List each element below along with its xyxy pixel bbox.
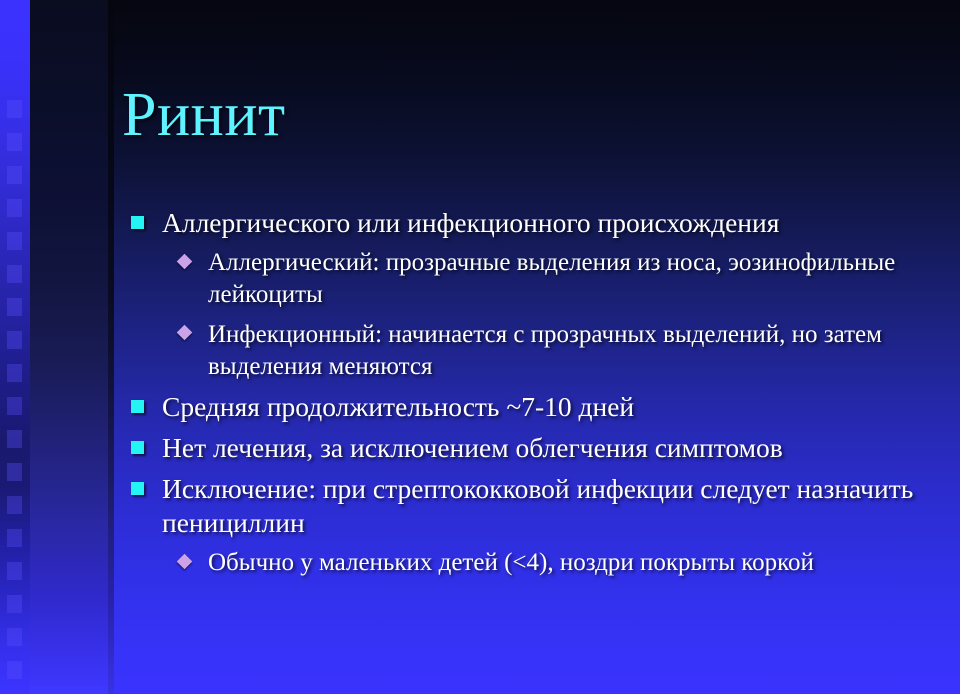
square-bullet-icon <box>130 206 162 234</box>
decorative-square <box>7 331 22 349</box>
diamond-bullet-icon <box>176 319 208 344</box>
decorative-square <box>7 397 22 415</box>
square-bullet-icon <box>130 431 162 459</box>
decorative-square <box>7 661 22 679</box>
decorative-square <box>7 463 22 481</box>
decorative-square <box>7 166 22 184</box>
bullet-text: Аллергический: прозрачные выделения из н… <box>208 247 930 312</box>
bullet-text: Исключение: при стрептококковой инфекции… <box>162 472 930 540</box>
bullet-text: Инфекционный: начинается с прозрачных вы… <box>208 319 930 384</box>
square-bullet-icon-glyph <box>131 216 144 229</box>
decorative-square <box>7 529 22 547</box>
decorative-square <box>7 298 22 316</box>
diamond-bullet-icon <box>176 547 208 572</box>
bullet-text: Обычно у маленьких детей (<4), ноздри по… <box>208 547 930 579</box>
bullet-row-level-2: Инфекционный: начинается с прозрачных вы… <box>118 319 930 384</box>
slide-body: Аллергического или инфекционного происхо… <box>118 206 930 587</box>
decorative-square <box>7 628 22 646</box>
decorative-square <box>7 232 22 250</box>
bullet-row-level-1: Исключение: при стрептококковой инфекции… <box>118 472 930 540</box>
left-decorative-band <box>0 0 114 694</box>
square-bullet-icon <box>130 390 162 418</box>
square-bullet-icon-glyph <box>131 441 144 454</box>
bullet-text: Аллергического или инфекционного происхо… <box>162 206 930 240</box>
slide-title: Ринит <box>122 84 922 146</box>
square-pattern-decoration <box>0 0 30 694</box>
bullet-text: Средняя продолжительность ~7-10 дней <box>162 390 930 424</box>
square-bullet-icon-glyph <box>131 400 144 413</box>
bullet-row-level-1: Нет лечения, за исключением облегчения с… <box>118 431 930 465</box>
diamond-bullet-icon-glyph <box>177 253 193 269</box>
diamond-bullet-icon-glyph <box>177 554 193 570</box>
diamond-bullet-icon <box>176 247 208 272</box>
decorative-square <box>7 133 22 151</box>
presentation-slide: Ринит Аллергического или инфекционного п… <box>0 0 960 694</box>
bullet-row-level-1: Средняя продолжительность ~7-10 дней <box>118 390 930 424</box>
decorative-square <box>7 562 22 580</box>
band-seam-divider <box>108 0 114 694</box>
bullet-row-level-1: Аллергического или инфекционного происхо… <box>118 206 930 240</box>
decorative-square <box>7 199 22 217</box>
decorative-square <box>7 265 22 283</box>
bullet-row-level-2: Аллергический: прозрачные выделения из н… <box>118 247 930 312</box>
decorative-square <box>7 595 22 613</box>
decorative-square <box>7 364 22 382</box>
diamond-bullet-icon-glyph <box>177 325 193 341</box>
decorative-square <box>7 430 22 448</box>
square-bullet-icon <box>130 472 162 500</box>
decorative-square <box>7 496 22 514</box>
square-bullet-icon-glyph <box>131 482 144 495</box>
decorative-square <box>7 100 22 118</box>
bullet-text: Нет лечения, за исключением облегчения с… <box>162 431 930 465</box>
bullet-row-level-2: Обычно у маленьких детей (<4), ноздри по… <box>118 547 930 579</box>
